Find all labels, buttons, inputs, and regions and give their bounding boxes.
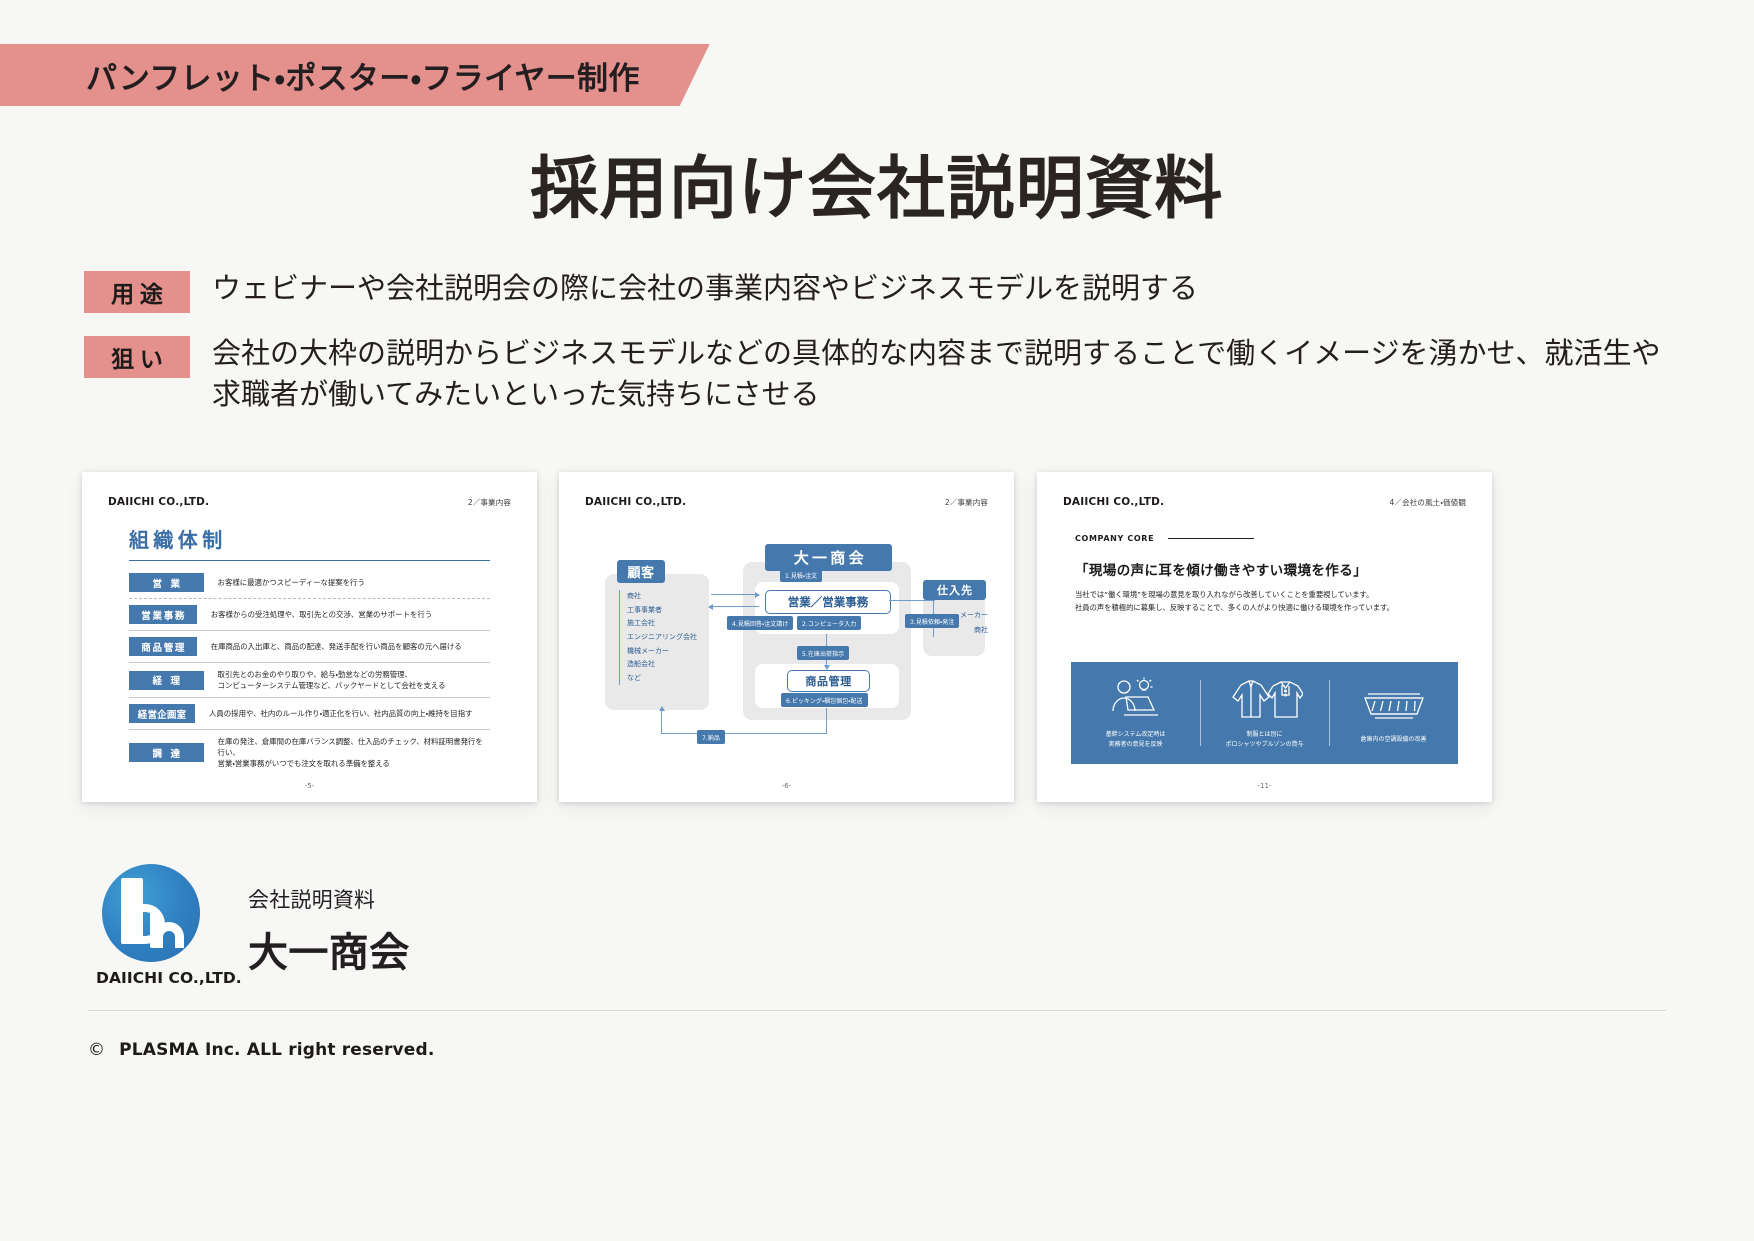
- meta-row-purpose: 用途 ウェビナーや会社説明会の際に会社の事業内容やビジネスモデルを説明する: [84, 268, 1684, 313]
- meta-tag-aim: 狙い: [84, 336, 190, 378]
- air-conditioner-icon: [1361, 681, 1427, 727]
- slide1-row-value: お客様からの受注処理や、取引先との交渉、営業のサポートを行う: [211, 609, 432, 620]
- slide3-body-line2: 社員の声を積極的に募集し、反映することで、多くの人がより快適に働ける環境を作って…: [1075, 602, 1454, 615]
- business-flow-diagram: 顧客 大一商会 仕入先 商社 工事事業者 施工会社 エンジニアリング会社 機械メ…: [575, 538, 998, 753]
- arrow-head-icon: [824, 665, 830, 670]
- logo-letter-d: [121, 878, 143, 944]
- logo-text-block: 会社説明資料 大一商会: [248, 864, 410, 978]
- connector-supplier-drop: [933, 600, 934, 610]
- logo-company-name: 大一商会: [248, 920, 410, 978]
- copyright-text: PLASMA Inc. ALL right reserved.: [119, 1040, 434, 1060]
- table-row: 経理 取引先とのお金のやり取りや、給与・勤怠などの労務管理、 コンピューターシス…: [129, 662, 490, 697]
- slide1-heading: 組織体制: [129, 524, 537, 553]
- arrow-head-icon: [755, 592, 760, 598]
- list-item: エンジニアリング会社: [627, 631, 719, 645]
- daiichi-circle-logo-icon: [102, 864, 200, 962]
- list-item: 施工会社: [627, 617, 719, 631]
- slide1-header: DAIICHI CO.,LTD. 2／事業内容: [82, 472, 537, 508]
- slide1-row-value: 在庫の発注、倉庫間の在庫バランス調整、仕入品のチェック、材料証明書発行を行い、 …: [218, 736, 490, 769]
- connector-sales-to-supplier: [889, 600, 935, 601]
- meta-tag-purpose: 用途: [84, 271, 190, 313]
- slide2-header: DAIICHI CO.,LTD. 2／事業内容: [559, 472, 1014, 508]
- slide3-header: DAIICHI CO.,LTD. 4／会社の風土・価値観: [1037, 472, 1492, 508]
- logo-wordmark: DAIICHI CO.,LTD.: [96, 969, 218, 987]
- connector-goods-down: [826, 708, 827, 734]
- slide1-row-key: 商品管理: [129, 637, 197, 656]
- customer-list: 商社 工事事業者 施工会社 エンジニアリング会社 機械メーカー 造船会社 など: [619, 590, 719, 685]
- table-row: 営業 お客様に最適かつスピーディーな提案を行う: [129, 567, 490, 598]
- panel-caption-2: 制服とは別に ポロシャツやブルゾンの貸与: [1225, 730, 1303, 749]
- panel-caption-1: 基幹システム改定時は 実務者の意見を反映: [1106, 730, 1166, 749]
- slide1-page-number: -5-: [82, 782, 537, 790]
- company-label-chip: 大一商会: [765, 544, 892, 571]
- slide3-brand: DAIICHI CO.,LTD.: [1063, 496, 1164, 508]
- eyebrow-rule: [1168, 538, 1254, 539]
- footer: © PLASMA Inc. ALL right reserved.: [88, 1040, 434, 1060]
- slide1-row-key: 営業事務: [129, 605, 197, 624]
- slide1-page-label: 2／事業内容: [468, 497, 511, 508]
- slide-preview-gallery: DAIICHI CO.,LTD. 2／事業内容 組織体制 営業 お客様に最適かつ…: [82, 472, 1672, 802]
- meta-text-aim: 会社の大枠の説明からビジネスモデルなどの具体的な内容まで説明することで働くイメー…: [212, 333, 1684, 415]
- slide3-icon-panel: 基幹システム改定時は 実務者の意見を反映 制服とは別に ポロシャツや: [1071, 662, 1458, 764]
- panel-cell-1: 基幹システム改定時は 実務者の意見を反映: [1071, 662, 1200, 764]
- list-item: 造船会社: [627, 658, 719, 672]
- node-goods-management: 商品管理: [787, 670, 870, 692]
- copyright-symbol: ©: [88, 1040, 105, 1060]
- supplier-label-chip: 仕入先: [923, 580, 986, 600]
- connector-delivery: [661, 733, 827, 734]
- ribbon-shape: パンフレット・ポスター・フライヤー制作: [0, 44, 710, 106]
- table-row: 経営企画室 人員の採用や、社内のルール作り・適正化を行い、社内品質の向上・維持を…: [129, 697, 490, 729]
- node-sales-office: 営業／営業事務: [765, 590, 891, 614]
- slide1-heading-rule: [129, 560, 490, 561]
- ribbon-label: パンフレット・ポスター・フライヤー制作: [86, 53, 640, 98]
- slide1-row-value: 取引先とのお金のやり取りや、給与・勤怠などの労務管理、 コンピューターシステム管…: [218, 669, 446, 691]
- slide3-page-number: -11-: [1037, 782, 1492, 790]
- slide2-page-number: -6-: [559, 782, 1014, 790]
- slide2-brand: DAIICHI CO.,LTD.: [585, 496, 686, 508]
- step-tag-6: 6.ピッキング・梱包個包・配送: [781, 693, 868, 707]
- page-title: 採用向け会社説明資料: [0, 133, 1754, 232]
- person-laptop-idea-icon: [1104, 676, 1168, 722]
- meta-row-aim: 狙い 会社の大枠の説明からビジネスモデルなどの具体的な内容まで説明することで働く…: [84, 333, 1684, 415]
- step-tag-2: 2.コンピュータ入力: [797, 616, 861, 630]
- connector-cust-to-sales: [711, 594, 759, 595]
- slide1-row-value: 人員の採用や、社内のルール作り・適正化を行い、社内品質の向上・維持を目指す: [209, 708, 472, 719]
- logo-subtitle: 会社説明資料: [248, 884, 410, 914]
- uniform-shirts-icon: [1227, 676, 1303, 722]
- footer-divider: [88, 1010, 1666, 1011]
- slide1-brand: DAIICHI CO.,LTD.: [108, 496, 209, 508]
- slide2-page-label: 2／事業内容: [945, 497, 988, 508]
- panel-cell-3: 倉庫内の空調設備の改善: [1329, 662, 1458, 764]
- slide1-row-key: 経理: [129, 671, 204, 690]
- meta-text-purpose: ウェビナーや会社説明会の際に会社の事業内容やビジネスモデルを説明する: [212, 268, 1198, 309]
- slide-card-1[interactable]: DAIICHI CO.,LTD. 2／事業内容 組織体制 営業 お客様に最適かつ…: [82, 472, 537, 802]
- table-row: 商品管理 在庫商品の入出庫と、商品の配達、発送手配を行い商品を顧客の元へ届ける: [129, 630, 490, 662]
- slide-card-2[interactable]: DAIICHI CO.,LTD. 2／事業内容 顧客 大一商会 仕入先 商社 工…: [559, 472, 1014, 802]
- connector-sales-to-cust: [711, 606, 759, 607]
- slide3-body-line1: 当社では“働く環境”を現場の意見を取り入れながら改善していくことを重要視していま…: [1075, 589, 1454, 602]
- meta-list: 用途 ウェビナーや会社説明会の際に会社の事業内容やビジネスモデルを説明する 狙い…: [84, 268, 1684, 435]
- step-tag-1: 1.見積・注文: [780, 568, 822, 582]
- panel-caption-3: 倉庫内の空調設備の改善: [1360, 735, 1426, 745]
- step-tag-4: 4.見積回答・注文請け: [727, 616, 793, 630]
- slide1-row-key: 調達: [129, 743, 204, 762]
- arrow-head-icon: [659, 706, 665, 711]
- slide-card-3[interactable]: DAIICHI CO.,LTD. 4／会社の風土・価値観 COMPANY COR…: [1037, 472, 1492, 802]
- slide3-eyebrow-row: COMPANY CORE: [1075, 534, 1492, 543]
- slide3-quote: 「現場の声に耳を傾け働きやすい環境を作る」: [1075, 559, 1454, 579]
- arrow-head-icon: [708, 604, 713, 610]
- logo-letter-n: [150, 910, 184, 948]
- list-item: 機械メーカー: [627, 645, 719, 659]
- table-row: 調達 在庫の発注、倉庫間の在庫バランス調整、仕入品のチェック、材料証明書発行を行…: [129, 729, 490, 775]
- slide3-body: 当社では“働く環境”を現場の意見を取り入れながら改善していくことを重要視していま…: [1075, 589, 1454, 615]
- list-item: 商社: [627, 590, 719, 604]
- slide1-org-table: 営業 お客様に最適かつスピーディーな提案を行う 営業事務 お客様からの受注処理や…: [129, 567, 490, 776]
- slide1-row-key: 経営企画室: [129, 704, 195, 723]
- step-tag-3: 3.見積依頼・発注: [905, 614, 959, 628]
- slide3-page-label: 4／会社の風土・価値観: [1390, 497, 1466, 508]
- slide1-row-value: お客様に最適かつスピーディーな提案を行う: [218, 577, 365, 588]
- step-tag-7: 7.納品: [697, 730, 725, 744]
- customer-label-chip: 顧客: [617, 560, 665, 583]
- company-logo-block: DAIICHI CO.,LTD. 会社説明資料 大一商会: [96, 864, 410, 987]
- slide1-row-value: 在庫商品の入出庫と、商品の配達、発送手配を行い商品を顧客の元へ届ける: [211, 641, 462, 652]
- panel-cell-2: 制服とは別に ポロシャツやブルゾンの貸与: [1200, 662, 1329, 764]
- slide1-row-key: 営業: [129, 573, 204, 592]
- slide3-eyebrow: COMPANY CORE: [1075, 534, 1154, 543]
- list-item: など: [627, 672, 719, 686]
- list-item: 工事事業者: [627, 604, 719, 618]
- table-row: 営業事務 お客様からの受注処理や、取引先との交渉、営業のサポートを行う: [129, 598, 490, 630]
- logo-mark: DAIICHI CO.,LTD.: [96, 864, 218, 987]
- connector-delivery-up: [661, 710, 662, 734]
- step-tag-5: 5.在庫出荷指示: [797, 646, 849, 660]
- category-ribbon: パンフレット・ポスター・フライヤー制作: [0, 44, 710, 106]
